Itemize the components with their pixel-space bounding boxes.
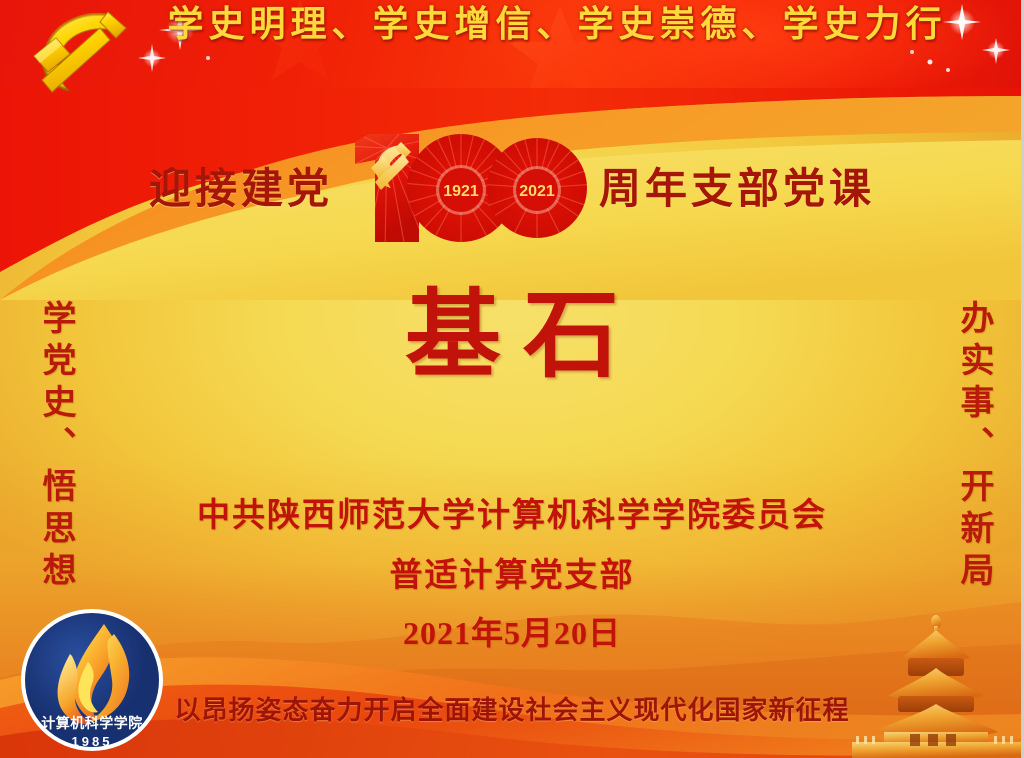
organization-line: 中共陕西师范大学计算机科学学院委员会 bbox=[0, 488, 1024, 536]
headline-row: 迎接建党 bbox=[0, 120, 1024, 250]
left-vertical-slogan: 学党史、悟思想 bbox=[26, 300, 80, 594]
page-title: 基石 bbox=[0, 286, 1024, 387]
branch-line: 普适计算党支部 bbox=[0, 548, 1024, 596]
presentation-slide: 学史明理、学史增信、学史崇德、学史力行 迎接建党 bbox=[0, 0, 1024, 758]
right-vertical-slogan: 办实事、开新局 bbox=[944, 300, 998, 594]
school-logo-name: 计算机科学学院 bbox=[41, 715, 143, 731]
anniversary-100-logo: 1921 2021 bbox=[341, 120, 591, 250]
hammer-and-sickle-icon bbox=[16, 4, 146, 100]
headline-prefix: 迎接建党 bbox=[149, 155, 333, 216]
headline-suffix: 周年支部党课 bbox=[599, 155, 875, 216]
logo-start-year: 1921 bbox=[443, 183, 479, 200]
school-logo: 计算机科学学院 1985 bbox=[18, 606, 166, 754]
logo-end-year: 2021 bbox=[519, 183, 555, 200]
banner-slogan: 学史明理、学史增信、学史崇德、学史力行 bbox=[0, 6, 1024, 42]
school-logo-year: 1985 bbox=[72, 734, 113, 749]
top-banner: 学史明理、学史增信、学史崇德、学史力行 bbox=[0, 0, 1024, 88]
